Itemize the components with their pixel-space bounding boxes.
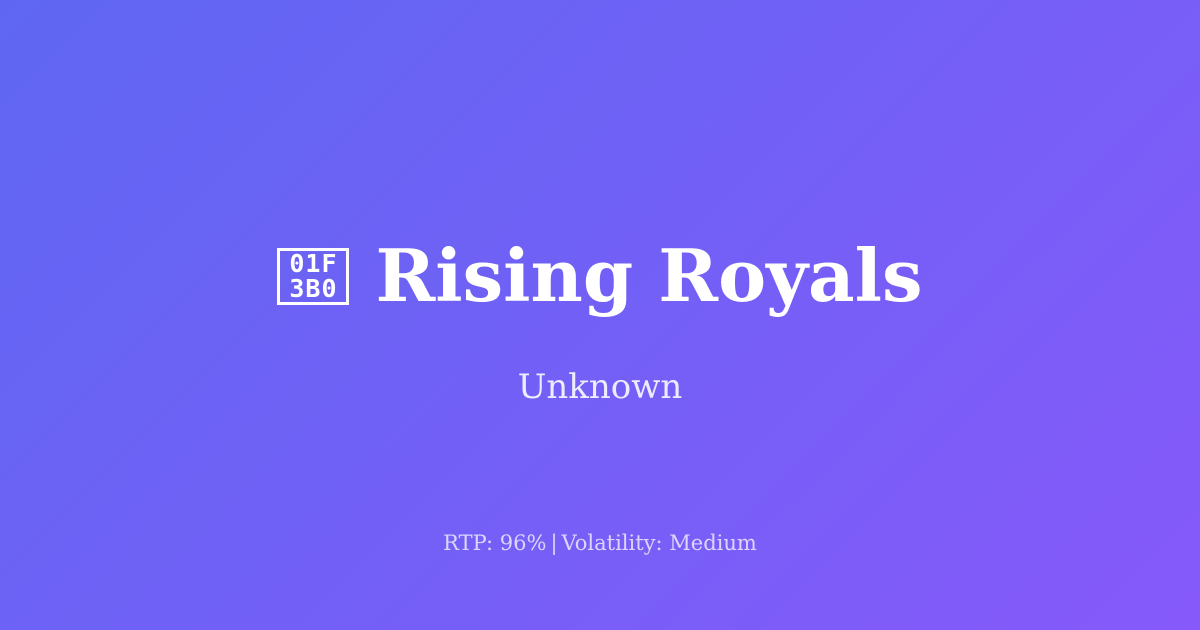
game-provider-subtitle: Unknown: [0, 367, 1200, 407]
game-og-card: 01F 3B0 Rising Royals Unknown RTP: 96%|V…: [0, 0, 1200, 630]
game-title-text: Rising Royals: [375, 238, 922, 314]
tofu-codepoint-high: 01F: [289, 251, 337, 276]
rtp-label: RTP: 96%: [443, 531, 546, 555]
page-title: 01F 3B0 Rising Royals: [277, 238, 922, 314]
slot-machine-emoji-icon: 01F 3B0: [277, 248, 349, 305]
game-meta-line: RTP: 96%|Volatility: Medium: [0, 530, 1200, 556]
meta-separator: |: [546, 531, 561, 555]
volatility-label: Volatility: Medium: [562, 531, 757, 555]
tofu-codepoint-low: 3B0: [289, 276, 337, 301]
